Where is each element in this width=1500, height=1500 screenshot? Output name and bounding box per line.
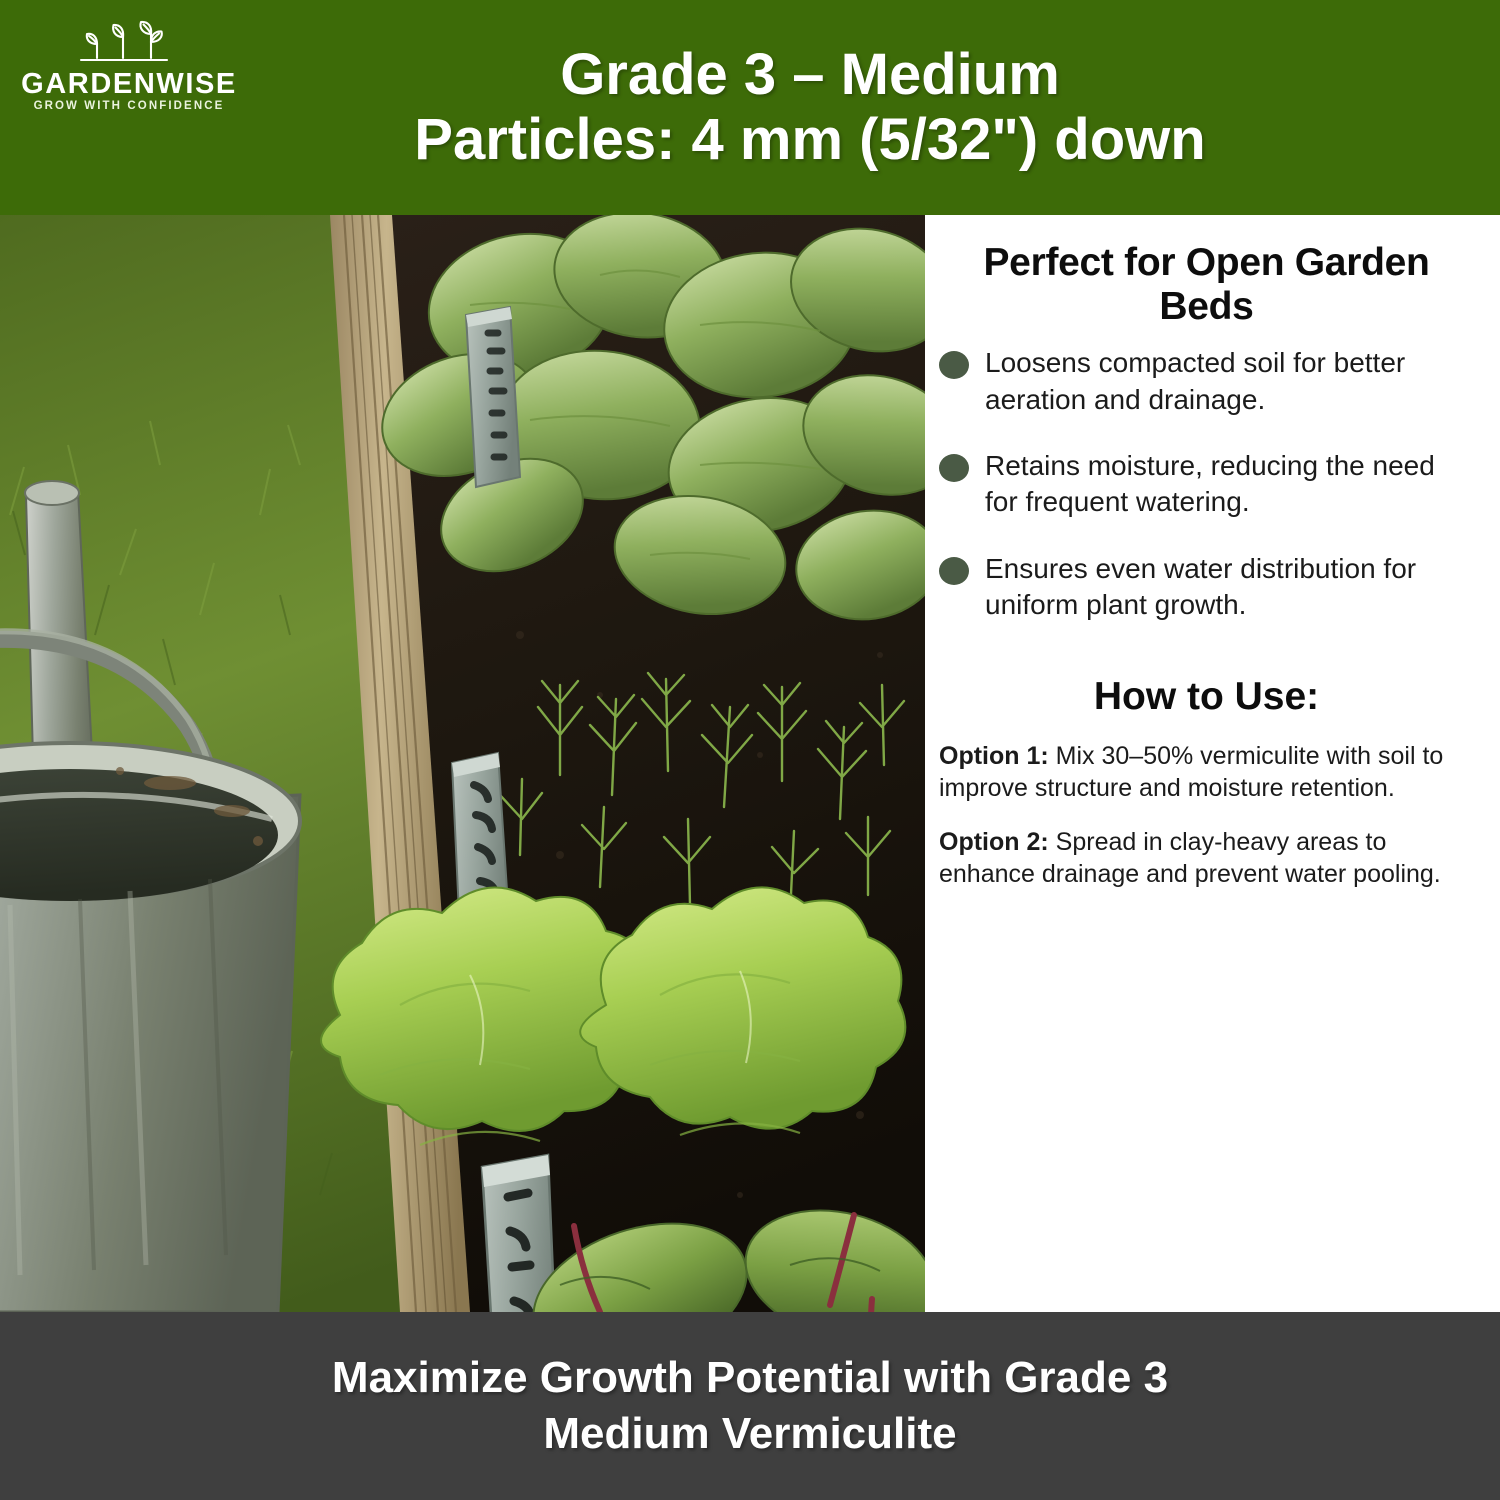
benefits-list: Loosens compacted soil for better aerati… <box>939 345 1474 653</box>
footer-text: Maximize Growth Potential with Grade 3 M… <box>292 1350 1208 1463</box>
garden-photo-illustration <box>0 215 925 1312</box>
body-section: Perfect for Open Garden Beds Loosens com… <box>0 215 1500 1312</box>
product-infographic: GARDENWISE GROW WITH CONFIDENCE Grade 3 … <box>0 0 1500 1500</box>
footer-banner: Maximize Growth Potential with Grade 3 M… <box>0 1312 1500 1500</box>
plant-label-cabbage <box>466 307 520 487</box>
bullet-dot-icon <box>939 557 969 585</box>
bullet-dot-icon <box>939 351 969 379</box>
panel-heading: Perfect for Open Garden Beds <box>939 241 1474 329</box>
list-item: Ensures even water distribution for unif… <box>939 551 1474 624</box>
footer-line1: Maximize Growth Potential with Grade 3 <box>332 1350 1168 1406</box>
option-1-label: Option 1: <box>939 742 1049 770</box>
brand-logo: GARDENWISE GROW WITH CONFIDENCE <box>14 18 244 113</box>
features-panel: Perfect for Open Garden Beds Loosens com… <box>925 215 1500 1312</box>
benefit-text: Ensures even water distribution for unif… <box>985 551 1474 624</box>
benefit-text: Loosens compacted soil for better aerati… <box>985 345 1474 418</box>
header-title-line2: Particles: 4 mm (5/32") down <box>120 108 1500 173</box>
header-title-line1: Grade 3 – Medium <box>120 43 1500 108</box>
option-1: Option 1: Mix 30–50% vermiculite with so… <box>939 741 1474 805</box>
benefit-text: Retains moisture, reducing the need for … <box>985 448 1474 521</box>
footer-line2: Medium Vermiculite <box>332 1406 1168 1462</box>
header-banner: GARDENWISE GROW WITH CONFIDENCE Grade 3 … <box>0 0 1500 215</box>
brand-name: GARDENWISE <box>21 70 237 99</box>
option-2-label: Option 2: <box>939 828 1049 856</box>
option-2: Option 2: Spread in clay-heavy areas to … <box>939 827 1474 891</box>
brand-tagline: GROW WITH CONFIDENCE <box>34 101 225 113</box>
list-item: Retains moisture, reducing the need for … <box>939 448 1474 521</box>
bullet-dot-icon <box>939 454 969 482</box>
seedling-sprouts-icon <box>71 18 187 68</box>
list-item: Loosens compacted soil for better aerati… <box>939 345 1474 418</box>
garden-photo <box>0 215 925 1312</box>
howto-heading: How to Use: <box>939 675 1474 719</box>
